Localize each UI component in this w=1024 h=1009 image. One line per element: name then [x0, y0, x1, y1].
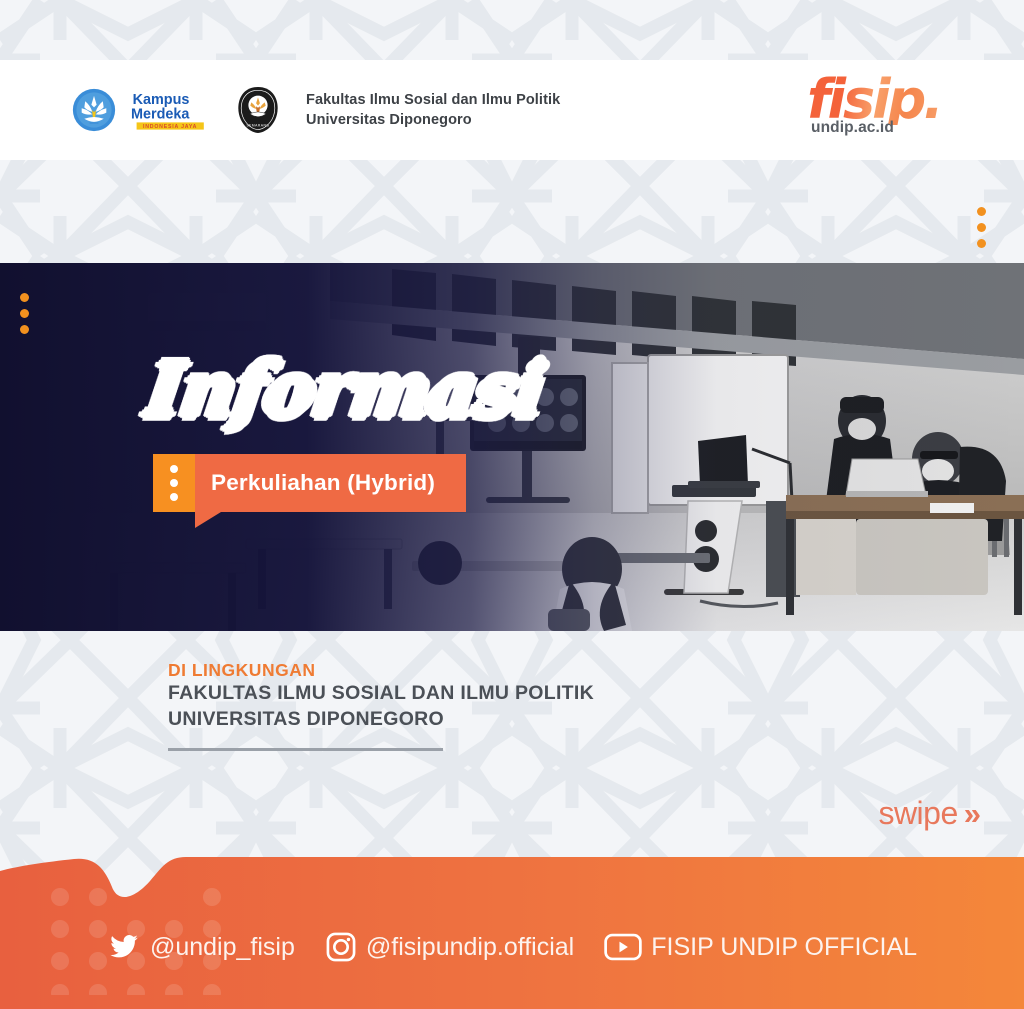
- page-header: Kampus Merdeka INDONESIA JAYA SEMARANG F…: [0, 60, 1024, 160]
- km-line1: Kampus: [133, 92, 190, 108]
- twitter-handle: @undip_fisip: [150, 933, 295, 962]
- hero-label-ribbon: Perkuliahan (Hybrid): [153, 454, 466, 512]
- hero-headline-text: Informasi: [142, 348, 550, 434]
- km-line2: Merdeka: [131, 106, 190, 122]
- instagram-handle: @fisipundip.official: [366, 933, 574, 962]
- km-banner: INDONESIA JAYA: [143, 124, 197, 130]
- body-line2: UNIVERSITAS DIPONEGORO: [168, 707, 594, 733]
- social-youtube[interactable]: FISIP UNDIP OFFICIAL: [604, 932, 917, 962]
- hero-headline: Informasi: [142, 348, 550, 434]
- swipe-label: swipe: [878, 795, 957, 832]
- page-footer: @undip_fisip @fisipundip.official FISIP …: [0, 857, 1024, 1009]
- instagram-icon: [325, 931, 357, 963]
- faculty-title: Fakultas Ilmu Sosial dan Ilmu Politik Un…: [306, 90, 560, 130]
- social-twitter[interactable]: @undip_fisip: [107, 932, 295, 962]
- svg-text:SEMARANG: SEMARANG: [246, 123, 269, 127]
- swipe-hint[interactable]: swipe »: [878, 795, 976, 832]
- ribbon-label: Perkuliahan (Hybrid): [195, 454, 466, 512]
- social-links: @undip_fisip @fisipundip.official FISIP …: [0, 857, 1024, 1009]
- faculty-title-line2: Universitas Diponegoro: [306, 110, 560, 130]
- tut-wuri-handayani-icon: [72, 88, 116, 132]
- kampus-merdeka-logo: Kampus Merdeka INDONESIA JAYA: [130, 88, 212, 132]
- undip-crest-icon: SEMARANG: [236, 86, 280, 134]
- ribbon-dot-block: [153, 454, 195, 512]
- fisip-domain: undip.ac.id: [811, 119, 972, 137]
- faculty-title-line1: Fakultas Ilmu Sosial dan Ilmu Politik: [306, 90, 560, 110]
- youtube-handle: FISIP UNDIP OFFICIAL: [651, 933, 917, 962]
- body-text-block: DI LINGKUNGAN FAKULTAS ILMU SOSIAL DAN I…: [168, 660, 594, 732]
- fisip-wordmark: fisip.: [807, 74, 972, 125]
- body-line1: FAKULTAS ILMU SOSIAL DAN ILMU POLITIK: [168, 681, 594, 707]
- decorative-dots-photo: [20, 293, 29, 334]
- social-instagram[interactable]: @fisipundip.official: [325, 931, 574, 963]
- twitter-icon: [107, 932, 141, 962]
- decorative-dots-right: [977, 207, 986, 248]
- body-divider: [168, 748, 443, 751]
- youtube-icon: [604, 932, 642, 962]
- hero-photo-banner: [0, 263, 1024, 631]
- header-logos: Kampus Merdeka INDONESIA JAYA SEMARANG F…: [72, 86, 560, 134]
- body-kicker: DI LINGKUNGAN: [168, 660, 594, 681]
- fisip-brand-logo: fisip. undip.ac.id: [807, 74, 972, 137]
- swipe-chevron-icon: »: [964, 796, 976, 832]
- ribbon-dots-icon: [170, 465, 178, 501]
- ribbon-tail-shape: [195, 512, 221, 528]
